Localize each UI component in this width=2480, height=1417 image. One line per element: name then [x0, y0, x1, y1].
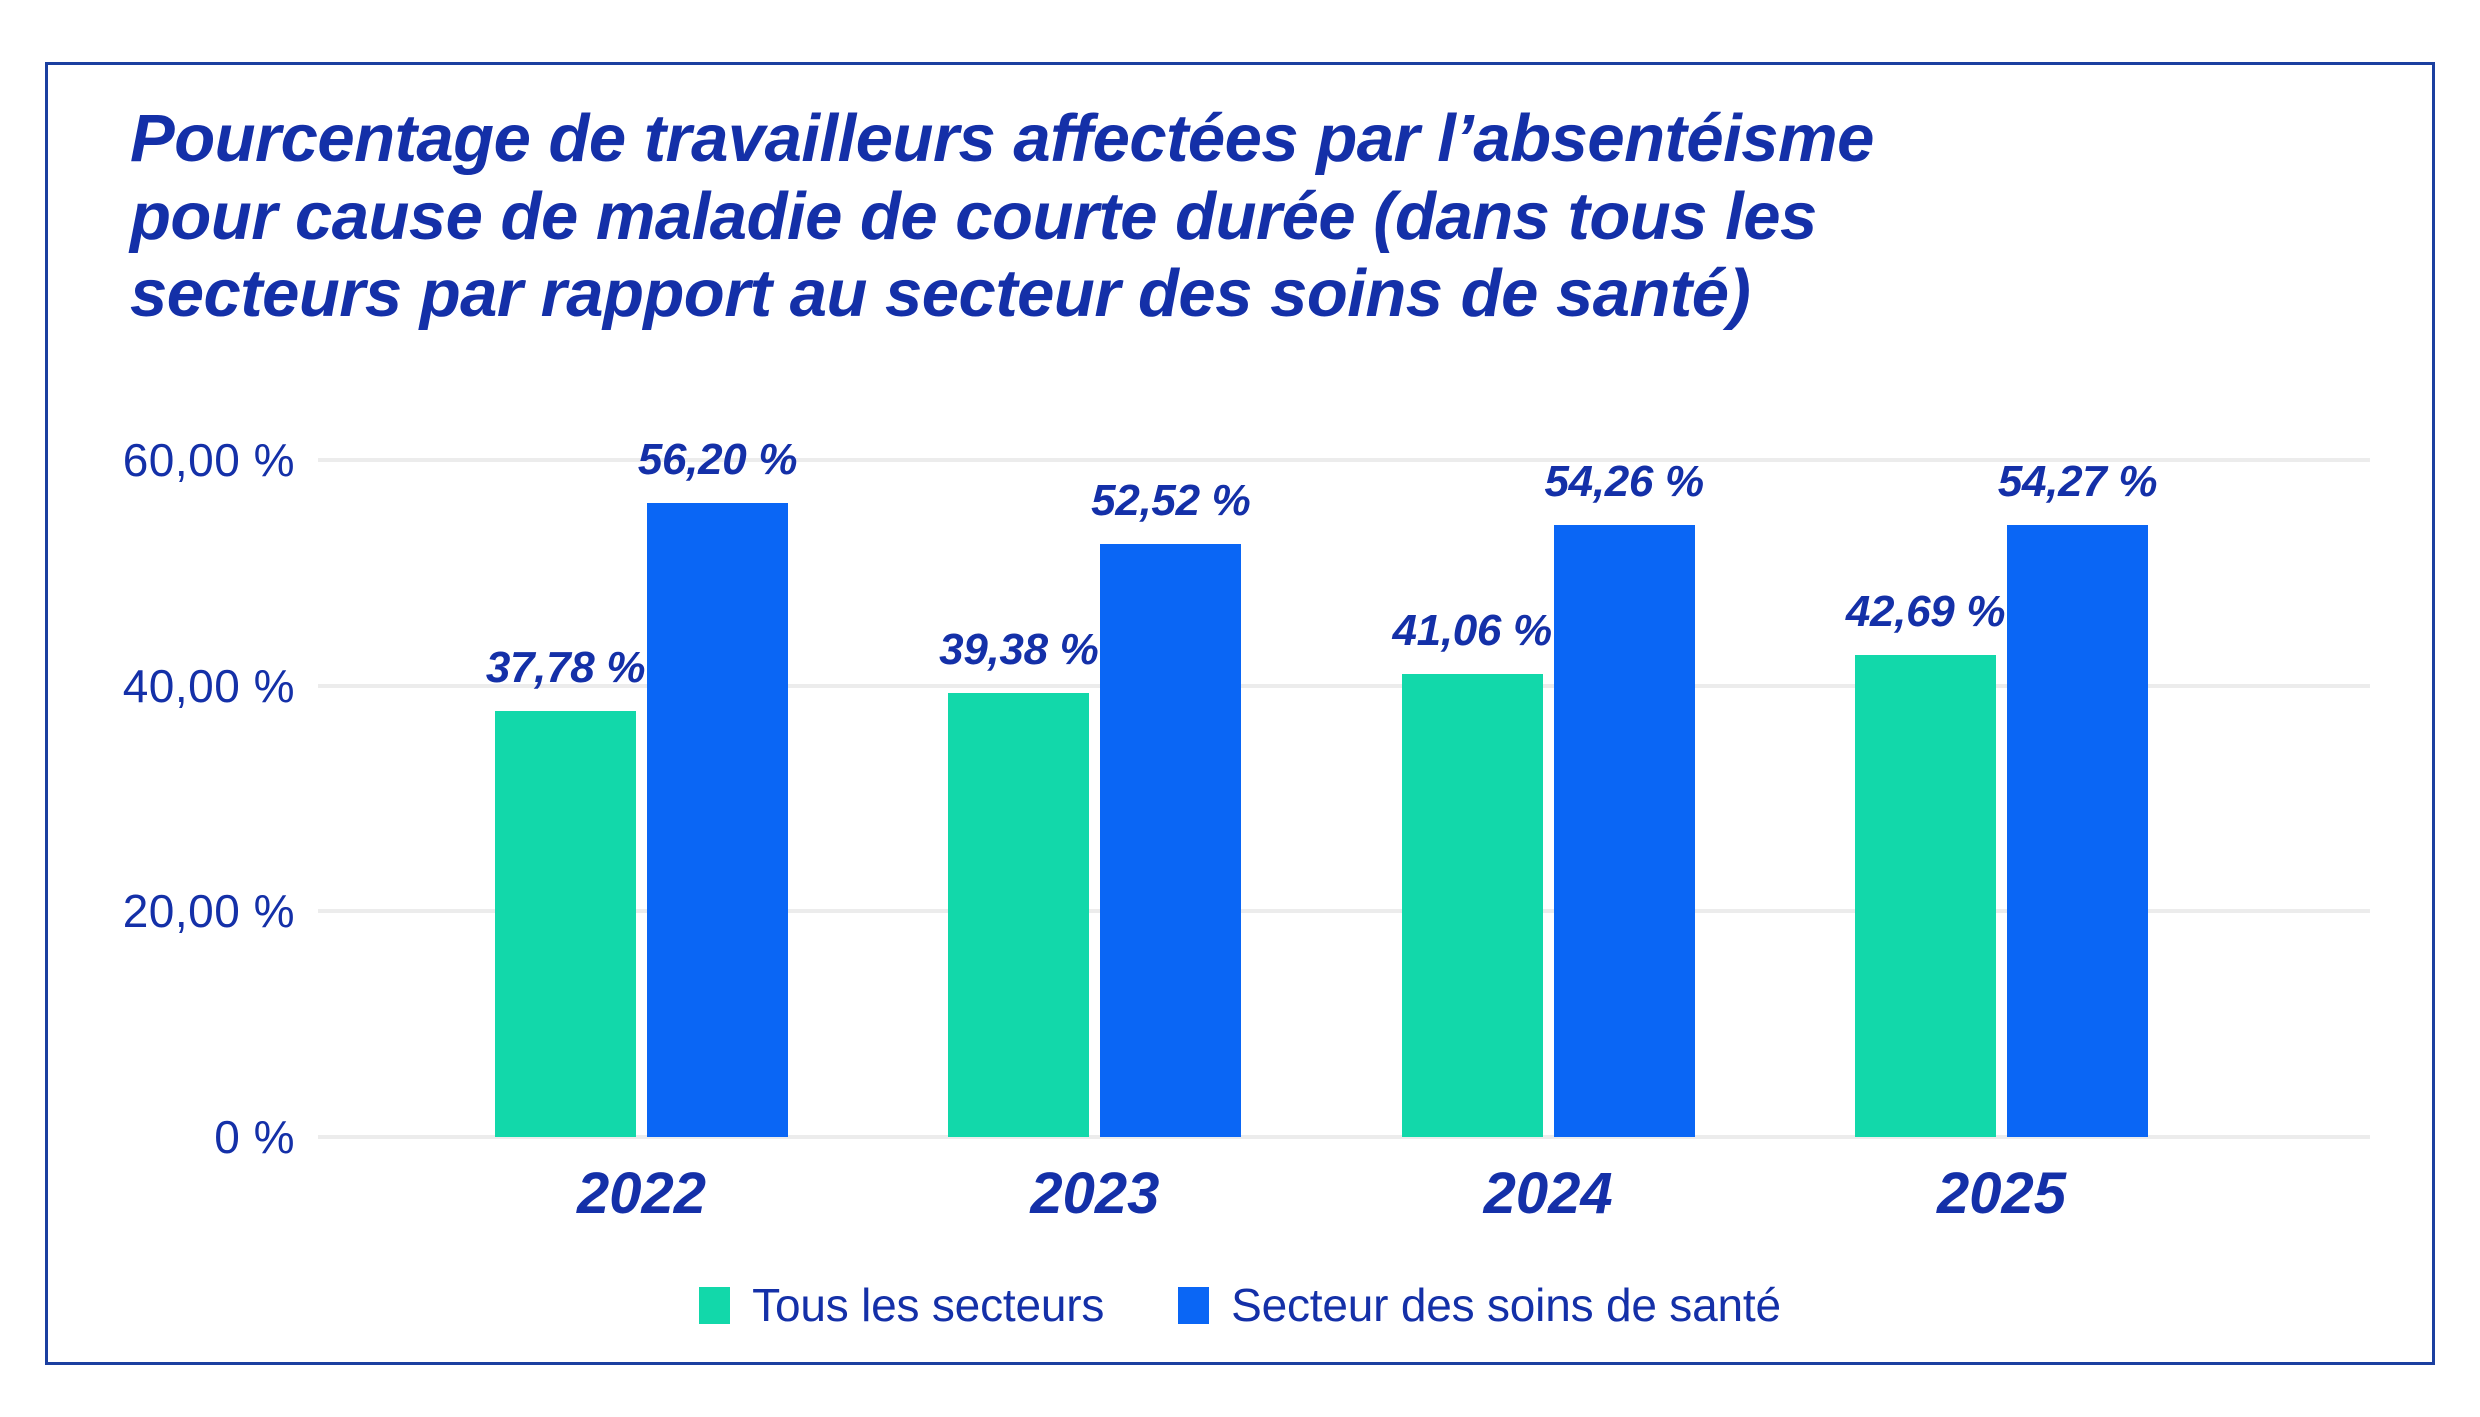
legend-item-tous-les-secteurs[interactable]: Tous les secteurs [699, 1278, 1104, 1332]
bar-value-label-2023-series2: 52,52 % [1091, 476, 1250, 526]
bar-value-label-2022-series1: 37,78 % [486, 643, 645, 693]
bar-2023-series2[interactable] [1100, 544, 1241, 1137]
bar-2022-series1[interactable] [495, 711, 636, 1137]
legend-swatch-icon [1178, 1287, 1209, 1324]
y-axis-tick-label: 60,00 % [55, 433, 295, 487]
bar-2025-series1[interactable] [1855, 655, 1996, 1137]
legend-swatch-icon [699, 1287, 730, 1324]
bar-value-label-2025-series1: 42,69 % [1846, 587, 2005, 637]
chart-title: Pourcentage de travailleurs affectées pa… [130, 100, 2350, 333]
bar-2025-series2[interactable] [2007, 525, 2148, 1137]
bar-2024-series1[interactable] [1402, 674, 1543, 1137]
legend-label: Tous les secteurs [752, 1278, 1104, 1332]
plot-area [318, 460, 2370, 1137]
x-axis-label-2022: 2022 [577, 1160, 706, 1227]
legend-label: Secteur des soins de santé [1231, 1278, 1781, 1332]
bar-2022-series2[interactable] [647, 503, 788, 1137]
y-axis-tick-label: 40,00 % [55, 659, 295, 713]
x-axis-label-2024: 2024 [1484, 1160, 1613, 1227]
bar-value-label-2024-series2: 54,26 % [1544, 457, 1703, 507]
legend-item-secteur-soins-de-sante[interactable]: Secteur des soins de santé [1178, 1278, 1781, 1332]
bar-value-label-2022-series2: 56,20 % [638, 435, 797, 485]
chart-legend: Tous les secteursSecteur des soins de sa… [0, 1278, 2480, 1332]
x-axis-label-2025: 2025 [1937, 1160, 2066, 1227]
y-axis-tick-label: 0 % [55, 1110, 295, 1164]
bar-value-label-2024-series1: 41,06 % [1392, 606, 1551, 656]
y-axis-tick-label: 20,00 % [55, 884, 295, 938]
bar-2024-series2[interactable] [1554, 525, 1695, 1137]
bar-value-label-2025-series2: 54,27 % [1998, 457, 2157, 507]
chart-canvas: Pourcentage de travailleurs affectées pa… [0, 0, 2480, 1417]
x-axis-label-2023: 2023 [1030, 1160, 1159, 1227]
bar-2023-series1[interactable] [948, 693, 1089, 1137]
bar-value-label-2023-series1: 39,38 % [939, 625, 1098, 675]
